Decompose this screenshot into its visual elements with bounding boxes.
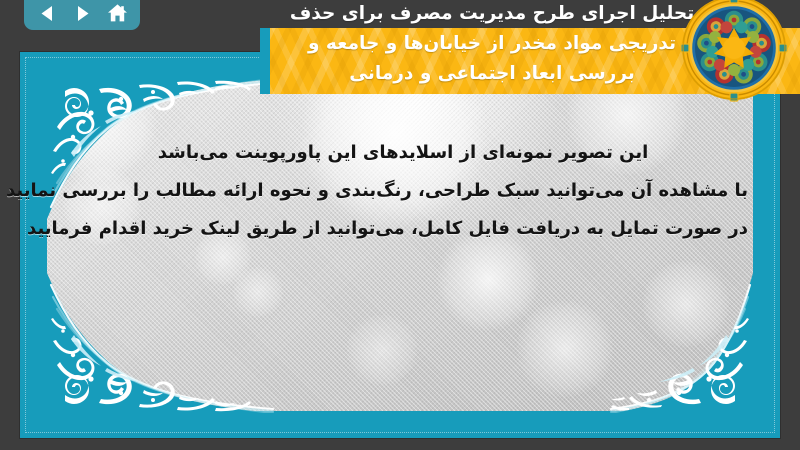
slide-viewer: این تصویر نمونه‌ای از اسلایدهای این پاور…	[0, 0, 800, 450]
previous-slide-button[interactable]	[35, 1, 59, 25]
slide-content-area	[47, 79, 753, 411]
bokeh-circle	[47, 79, 157, 183]
bokeh-circle	[299, 79, 489, 229]
title-line-1: تحلیل اجرای طرح مدیریت مصرف برای حذف	[268, 0, 716, 29]
persian-medallion-ornament	[680, 0, 788, 102]
bokeh-circle	[63, 167, 141, 245]
bokeh-circle	[347, 315, 417, 385]
bokeh-circle	[437, 229, 539, 331]
triangle-left-icon	[38, 4, 57, 23]
slide-navigation-bar	[24, 0, 140, 30]
home-button[interactable]	[105, 1, 129, 25]
bokeh-circle	[517, 301, 613, 397]
canvas-texture	[47, 79, 753, 411]
next-slide-button[interactable]	[70, 1, 94, 25]
bokeh-circle	[233, 267, 283, 317]
bokeh-circle	[643, 261, 729, 347]
title-banner-left-cap	[260, 28, 270, 94]
home-icon	[107, 3, 128, 23]
bokeh-circle	[195, 229, 251, 285]
triangle-right-icon	[73, 4, 92, 23]
